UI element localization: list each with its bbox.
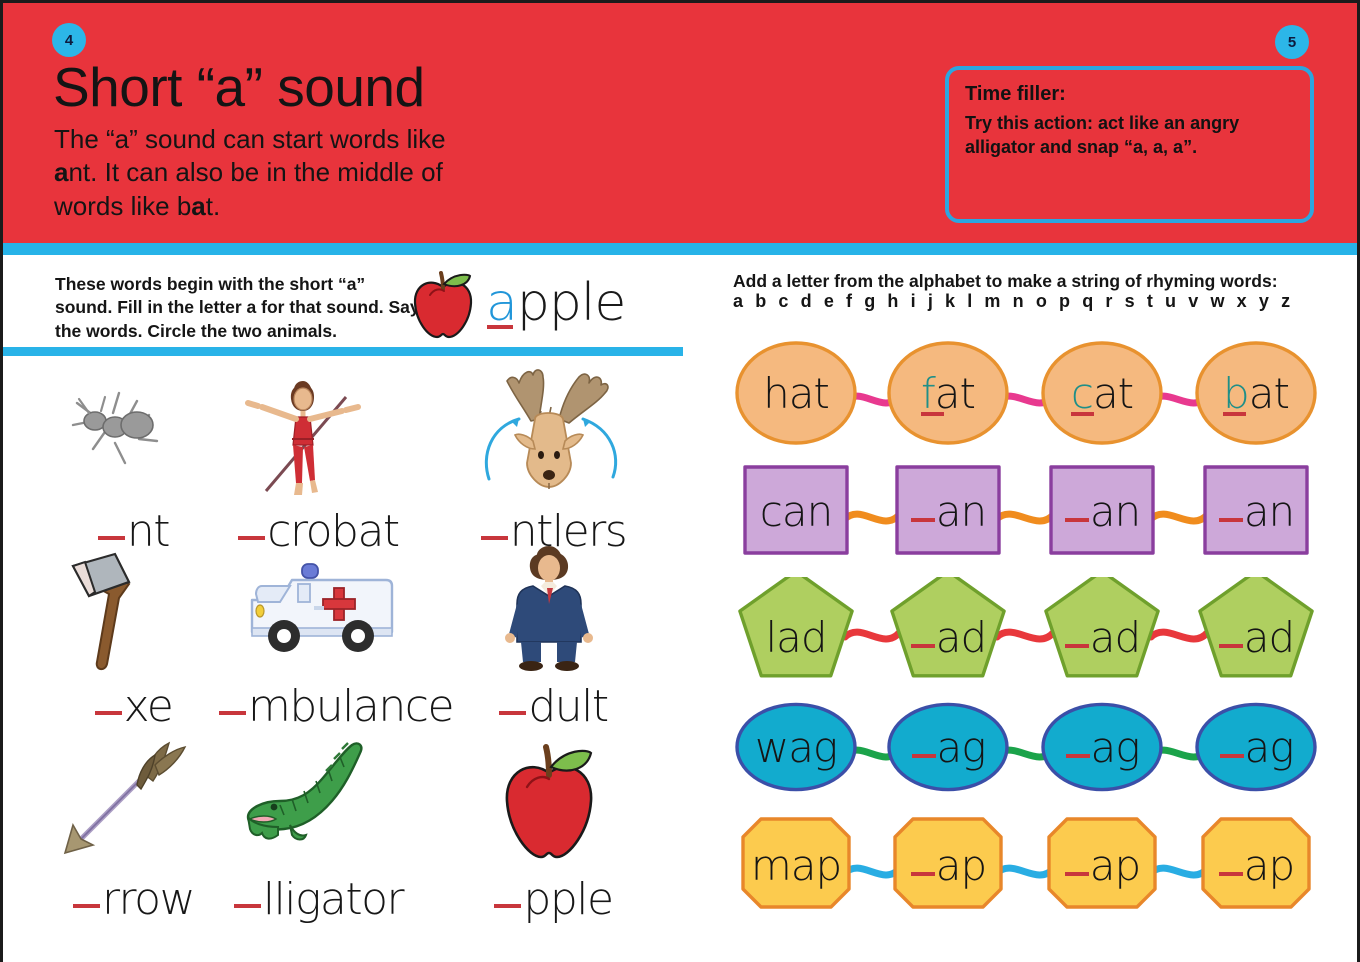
- word-cell-adult[interactable]: dult: [453, 538, 653, 734]
- time-filler-box: Time filler: Try this action: act like a…: [945, 66, 1314, 223]
- chain-word[interactable]: hat: [745, 369, 847, 418]
- word-label: lligator: [218, 874, 418, 925]
- chain-word-rime: at: [935, 369, 975, 418]
- subtitle-text: t.: [206, 191, 220, 221]
- word-rest: lligator: [263, 874, 403, 925]
- chain-word-rime: ad: [936, 613, 986, 662]
- chain-word[interactable]: ad: [1051, 613, 1153, 662]
- header-cyan-rule: [3, 243, 1357, 255]
- subtitle-bold-letter: a: [54, 157, 68, 187]
- word-cell-antlers[interactable]: ntlers: [453, 363, 653, 559]
- apple-icon: [453, 731, 653, 871]
- chain-word-rime: an: [1244, 487, 1294, 536]
- rhyming-chain-row: hatfatcatbat: [697, 341, 1357, 459]
- antlers-icon: [453, 363, 653, 503]
- chain-word[interactable]: fat: [897, 369, 999, 418]
- picture-word-grid: nt: [33, 363, 673, 953]
- example-filled-letter: a: [486, 273, 517, 333]
- chain-word-prefix: f: [921, 369, 935, 418]
- axe-icon: [33, 538, 233, 678]
- word-rest: dult: [528, 681, 607, 732]
- chain-connector: [845, 632, 899, 639]
- chain-word-text: hat: [763, 369, 829, 418]
- chain-word-rime: ap: [936, 841, 986, 890]
- chain-word[interactable]: ag: [1051, 723, 1153, 772]
- word-rest: rrow: [102, 874, 194, 925]
- chain-word[interactable]: ad: [897, 613, 999, 662]
- chain-word[interactable]: cat: [1051, 369, 1153, 418]
- example-word-rest: pple: [517, 273, 625, 333]
- subtitle-text: nt. It can also be in the middle of word…: [54, 157, 443, 220]
- word-cell-acrobat[interactable]: crobat: [218, 363, 418, 559]
- page-number-badge-right: 5: [1275, 25, 1309, 59]
- word-label: pple: [453, 874, 653, 925]
- workbook-page: 4 5 Short “a” sound The “a” sound can st…: [0, 0, 1360, 962]
- chain-word[interactable]: ag: [1205, 723, 1307, 772]
- word-cell-axe[interactable]: xe: [33, 538, 233, 734]
- page-title: Short “a” sound: [53, 60, 425, 115]
- rhyming-chains: hatfatcatbatcananananladadadadwagagagagm…: [697, 341, 1357, 961]
- chain-word-rime: ap: [1244, 841, 1294, 890]
- chain-word-rime: ag: [1245, 723, 1294, 772]
- apple-example: apple: [408, 267, 658, 343]
- chain-word[interactable]: can: [745, 487, 847, 536]
- chain-word-prefix: b: [1223, 369, 1249, 418]
- ambulance-icon: [218, 538, 418, 678]
- rhyming-chain-row: mapapapap: [697, 813, 1357, 931]
- chain-connector: [997, 514, 1053, 521]
- word-label: mbulance: [218, 681, 418, 732]
- word-cell-ambulance[interactable]: mbulance: [218, 538, 418, 734]
- chain-word-rime: ad: [1090, 613, 1140, 662]
- time-filler-title: Time filler:: [965, 83, 1066, 106]
- chain-word[interactable]: ap: [1051, 841, 1153, 890]
- page-subtitle: The “a” sound can start words like ant. …: [54, 123, 474, 223]
- word-rest: pple: [523, 874, 612, 925]
- word-cell-ant[interactable]: nt: [33, 363, 233, 559]
- word-rest: xe: [124, 681, 173, 732]
- word-label: rrow: [33, 874, 233, 925]
- chain-connector: [997, 868, 1053, 875]
- chain-word-text: wag: [755, 723, 837, 772]
- alphabet-strip: a b c d e f g h i j k l m n o p q r s t …: [733, 291, 1294, 312]
- chain-word-text: lad: [765, 613, 826, 662]
- example-word: apple: [486, 273, 625, 333]
- chain-word[interactable]: map: [745, 841, 847, 890]
- chain-word-rime: an: [936, 487, 986, 536]
- chain-word[interactable]: an: [1051, 487, 1153, 536]
- right-instructions: Add a letter from the alphabet to make a…: [733, 269, 1333, 294]
- chain-word-rime: ad: [1244, 613, 1294, 662]
- chain-connector: [1151, 868, 1207, 875]
- chain-word-rime: an: [1090, 487, 1140, 536]
- left-activity-panel: These words begin with the short “a” sou…: [3, 255, 697, 962]
- left-instructions: These words begin with the short “a” sou…: [55, 273, 425, 343]
- word-label: xe: [33, 681, 233, 732]
- word-cell-apple[interactable]: pple: [453, 731, 653, 927]
- chain-word[interactable]: ap: [897, 841, 999, 890]
- chain-word-prefix: c: [1071, 369, 1093, 418]
- time-filler-body: Try this action: act like an angry allig…: [965, 112, 1295, 160]
- alligator-icon: [218, 731, 418, 871]
- chain-word[interactable]: bat: [1205, 369, 1307, 418]
- chain-word-rime: at: [1249, 369, 1289, 418]
- subtitle-text: The “a” sound can start words like: [54, 124, 446, 154]
- chain-word[interactable]: an: [897, 487, 999, 536]
- chain-connector: [1151, 514, 1207, 521]
- chain-word[interactable]: ag: [897, 723, 999, 772]
- chain-word-rime: ap: [1090, 841, 1140, 890]
- chain-word-rime: ag: [1091, 723, 1140, 772]
- word-label: dult: [453, 681, 653, 732]
- word-rest: mbulance: [248, 681, 453, 732]
- chain-connector: [845, 868, 899, 875]
- rhyming-chain-row: wagagagag: [697, 695, 1357, 813]
- chain-connector: [1151, 632, 1207, 639]
- page-number-badge-left: 4: [52, 23, 86, 57]
- chain-word-rime: at: [1093, 369, 1133, 418]
- chain-word-text: can: [760, 487, 832, 536]
- chain-word[interactable]: ap: [1205, 841, 1307, 890]
- rhyming-chain-row: canananan: [697, 459, 1357, 577]
- apple-icon: [408, 269, 478, 341]
- ant-icon: [33, 363, 233, 503]
- chain-word-text: map: [751, 841, 841, 890]
- chain-word[interactable]: an: [1205, 487, 1307, 536]
- chain-word[interactable]: lad: [745, 613, 847, 662]
- left-section-divider: [3, 347, 683, 356]
- adult-icon: [453, 538, 653, 678]
- arrow-icon: [33, 731, 233, 871]
- word-cell-alligator[interactable]: lligator: [218, 731, 418, 927]
- word-cell-arrow[interactable]: rrow: [33, 731, 233, 927]
- chain-word[interactable]: ad: [1205, 613, 1307, 662]
- left-instructions-bold-letter: a: [247, 297, 257, 317]
- rhyming-chain-row: ladadadad: [697, 577, 1357, 695]
- chain-connector: [997, 632, 1053, 639]
- chain-word-rime: ag: [937, 723, 986, 772]
- subtitle-bold-letter: a: [191, 191, 205, 221]
- right-activity-panel: Add a letter from the alphabet to make a…: [697, 255, 1357, 962]
- chain-word[interactable]: wag: [745, 723, 847, 772]
- acrobat-icon: [218, 363, 418, 503]
- chain-connector: [845, 514, 899, 521]
